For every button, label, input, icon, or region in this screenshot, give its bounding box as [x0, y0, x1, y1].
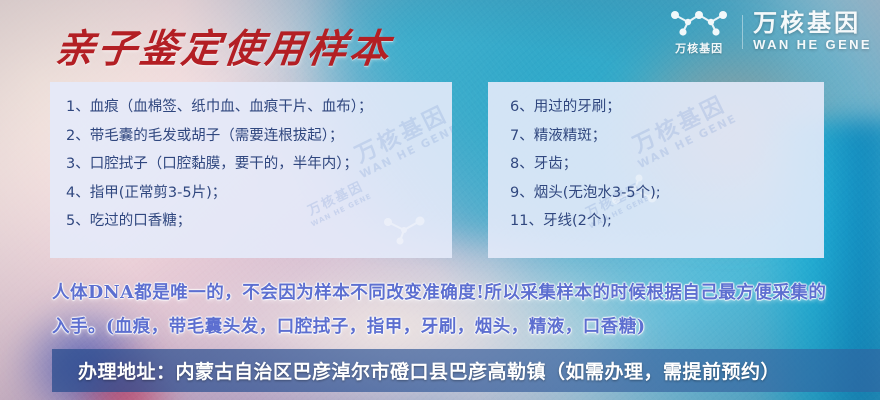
brand-mark: 万核基因	[666, 8, 732, 56]
address-text: 办理地址：内蒙古自治区巴彦淖尔市磴口县巴彦高勒镇（如需办理，需提前预约）	[52, 357, 780, 384]
list-item: 4、指甲(正常剪3-5片)；	[50, 186, 452, 201]
list-item: 3、口腔拭子（口腔黏膜，要干的，半年内）；	[50, 157, 452, 172]
info-paragraph: 人体DNA都是唯一的，不会因为样本不同改变准确度!所以采集样本的时候根据自己最方…	[52, 276, 842, 344]
list-item: 5、吃过的口香糖；	[50, 214, 452, 229]
sample-list-panel: 万核基因 WAN HE GENE 万核基因 WAN HE GENE 1、血痕（血…	[50, 82, 824, 258]
brand-divider	[742, 15, 743, 49]
address-bar: 办理地址：内蒙古自治区巴彦淖尔市磴口县巴彦高勒镇（如需办理，需提前预约）	[52, 349, 880, 392]
brand-logo[interactable]: 万核基因 万核基因 WAN HE GENE	[666, 8, 872, 56]
list-item: 8、牙齿；	[488, 157, 824, 172]
list-item: 11、牙线(2个);	[488, 214, 824, 229]
sample-list-left-column: 万核基因 WAN HE GENE 万核基因 WAN HE GENE 1、血痕（血…	[50, 82, 452, 258]
brand-wordmark: 万核基因 WAN HE GENE	[753, 11, 872, 52]
brand-mark-label: 万核基因	[675, 40, 723, 56]
sample-list-left: 1、血痕（血棉签、纸巾血、血痕干片、血布）； 2、带毛囊的毛发或胡子（需要连根拔…	[50, 82, 452, 229]
list-item: 2、带毛囊的毛发或胡子（需要连根拔起）；	[50, 129, 452, 144]
sample-list-right-column: 万核基因 WAN HE GENE 万核基因 WAN HE GENE 6、用过的牙…	[488, 82, 824, 258]
brand-name-en: WAN HE GENE	[753, 38, 872, 53]
panel-transparent-gap	[452, 82, 488, 258]
list-item: 7、精液精斑；	[488, 129, 824, 144]
molecule-node-icon	[666, 8, 732, 38]
sample-list-right: 6、用过的牙刷； 7、精液精斑； 8、牙齿； 9、烟头(无泡水3-5个); 11…	[488, 82, 824, 229]
list-item: 1、血痕（血棉签、纸巾血、血痕干片、血布）；	[50, 100, 452, 115]
list-item: 9、烟头(无泡水3-5个);	[488, 186, 824, 201]
page-title: 亲子鉴定使用样本	[53, 18, 396, 74]
poster-root: 亲子鉴定使用样本	[0, 0, 880, 400]
brand-name-cn: 万核基因	[753, 11, 872, 38]
list-item: 6、用过的牙刷；	[488, 100, 824, 115]
